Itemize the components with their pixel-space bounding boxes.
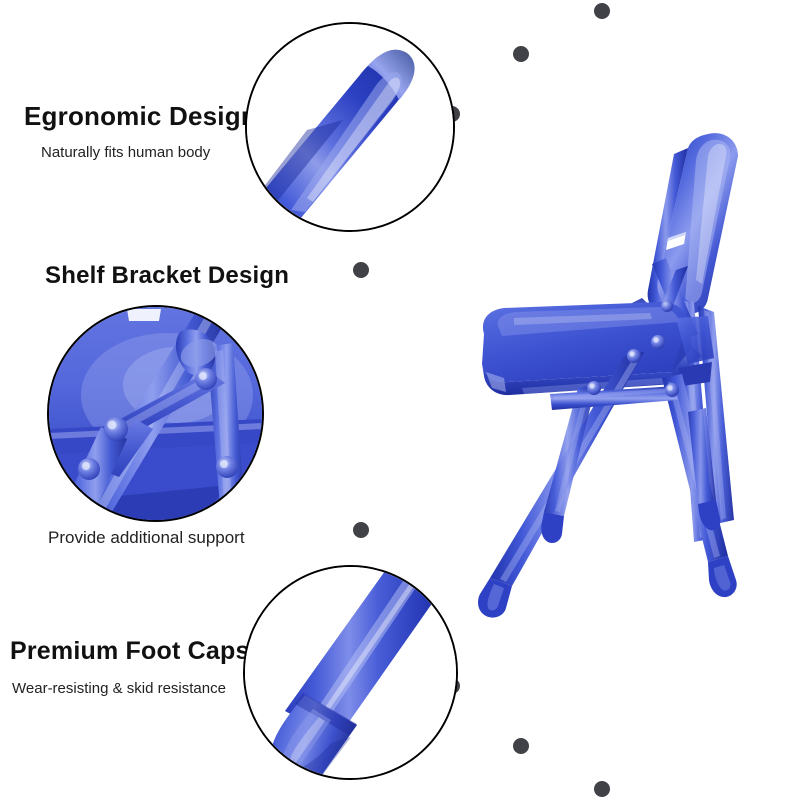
callout-ergonomic-title: Egronomic Design xyxy=(24,100,257,132)
callout-bracket-subtitle: Provide additional support xyxy=(48,527,245,549)
callout-ergonomic-design: Egronomic Design Naturally fits human bo… xyxy=(24,100,257,163)
arc-dot xyxy=(594,781,610,797)
rivet xyxy=(627,349,641,363)
foot-cap-back-left xyxy=(541,512,564,543)
arc-dot xyxy=(594,3,610,19)
callout-footcaps-title: Premium Foot Caps xyxy=(10,636,250,667)
footcap-closeup-icon xyxy=(243,565,458,780)
rivet xyxy=(587,381,601,395)
callout-shelf-bracket-design: Shelf Bracket Design xyxy=(45,261,289,291)
callout-bracket-subtitle-wrap: Provide additional support xyxy=(48,527,245,549)
backrest-closeup-icon xyxy=(245,22,455,232)
callout-bracket-title: Shelf Bracket Design xyxy=(45,261,289,291)
arc-dot xyxy=(513,46,529,62)
bracket-closeup-icon xyxy=(47,305,264,522)
rivet xyxy=(665,383,679,397)
folding-chair-graphic xyxy=(462,120,800,620)
backrest-closeup-graphic xyxy=(247,24,453,230)
infographic-canvas: Egronomic Design Naturally fits human bo… xyxy=(0,0,800,800)
arc-dot xyxy=(353,522,369,538)
callout-footcaps-subtitle: Wear-resisting & skid resistance xyxy=(12,679,250,699)
rivet xyxy=(651,335,665,349)
callout-premium-foot-caps: Premium Foot Caps Wear-resisting & skid … xyxy=(10,636,250,699)
callout-ergonomic-subtitle: Naturally fits human body xyxy=(41,143,257,163)
arc-dot xyxy=(513,738,529,754)
rivet xyxy=(661,300,673,312)
footcap-closeup-graphic xyxy=(245,567,456,778)
folding-chair-photo xyxy=(462,120,800,620)
arc-dot xyxy=(353,262,369,278)
bracket-closeup-graphic xyxy=(49,307,262,520)
